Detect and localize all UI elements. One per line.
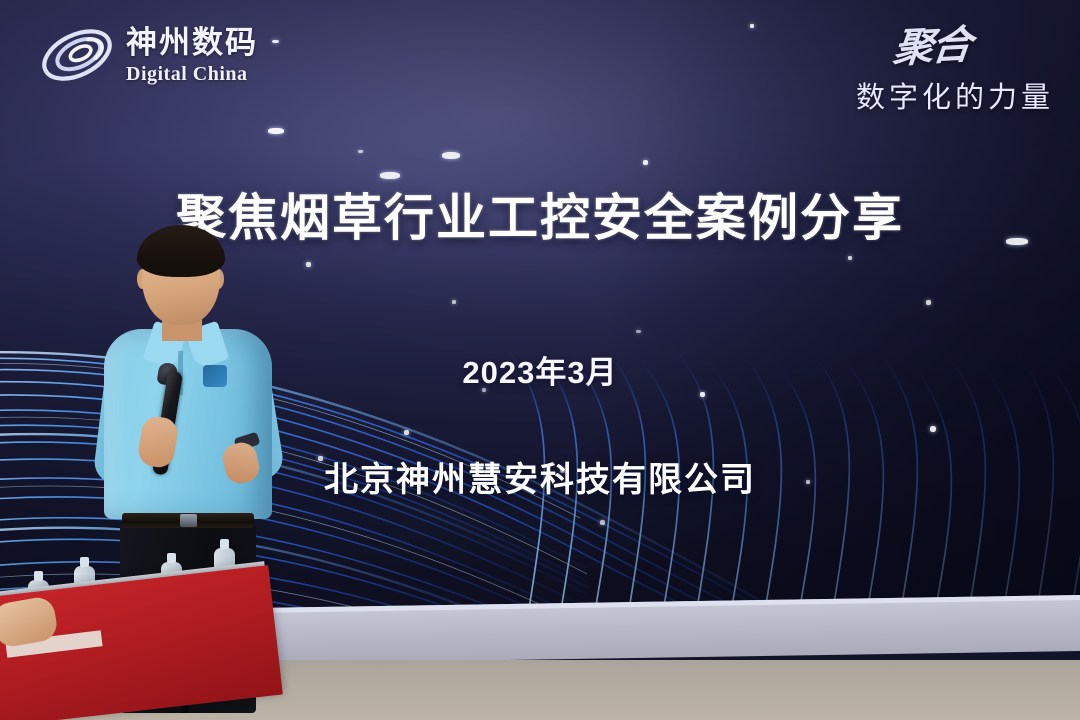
particle-dot <box>700 392 705 397</box>
brand-name-en: Digital China <box>126 64 258 84</box>
event-calligraphy: 聚合 <box>891 12 974 74</box>
particle-dot <box>358 150 363 153</box>
presentation-photo: 神州数码 Digital China 聚合 数字化的力量 聚焦烟草行业工控安全案… <box>0 0 1080 720</box>
speaker-hair <box>137 225 225 277</box>
brand-name-cn: 神州数码 <box>126 27 258 58</box>
particle-dot <box>404 430 409 435</box>
particle-dot <box>268 128 284 134</box>
particle-dot <box>750 24 754 28</box>
particle-dot <box>272 40 279 43</box>
particle-dot <box>636 330 641 333</box>
particle-dot <box>306 262 311 267</box>
speaker-belt-buckle <box>180 514 197 527</box>
event-subtitle: 数字化的力量 <box>856 74 1054 116</box>
speaker-polo-shirt <box>104 329 272 519</box>
event-mark: 聚合 数字化的力量 <box>856 14 1054 116</box>
particle-dot <box>600 520 605 525</box>
particle-dot <box>926 300 931 305</box>
brand-wordmark: 神州数码 Digital China <box>126 27 258 84</box>
particle-dot <box>643 160 648 165</box>
particle-dot <box>930 426 936 432</box>
particle-dot <box>848 256 852 260</box>
speaker-shirt-logo <box>203 365 227 387</box>
particle-dot <box>442 152 460 159</box>
digital-china-swirl-icon <box>38 22 116 88</box>
particle-dot <box>452 300 456 304</box>
digital-china-logo: 神州数码 Digital China <box>38 22 258 88</box>
